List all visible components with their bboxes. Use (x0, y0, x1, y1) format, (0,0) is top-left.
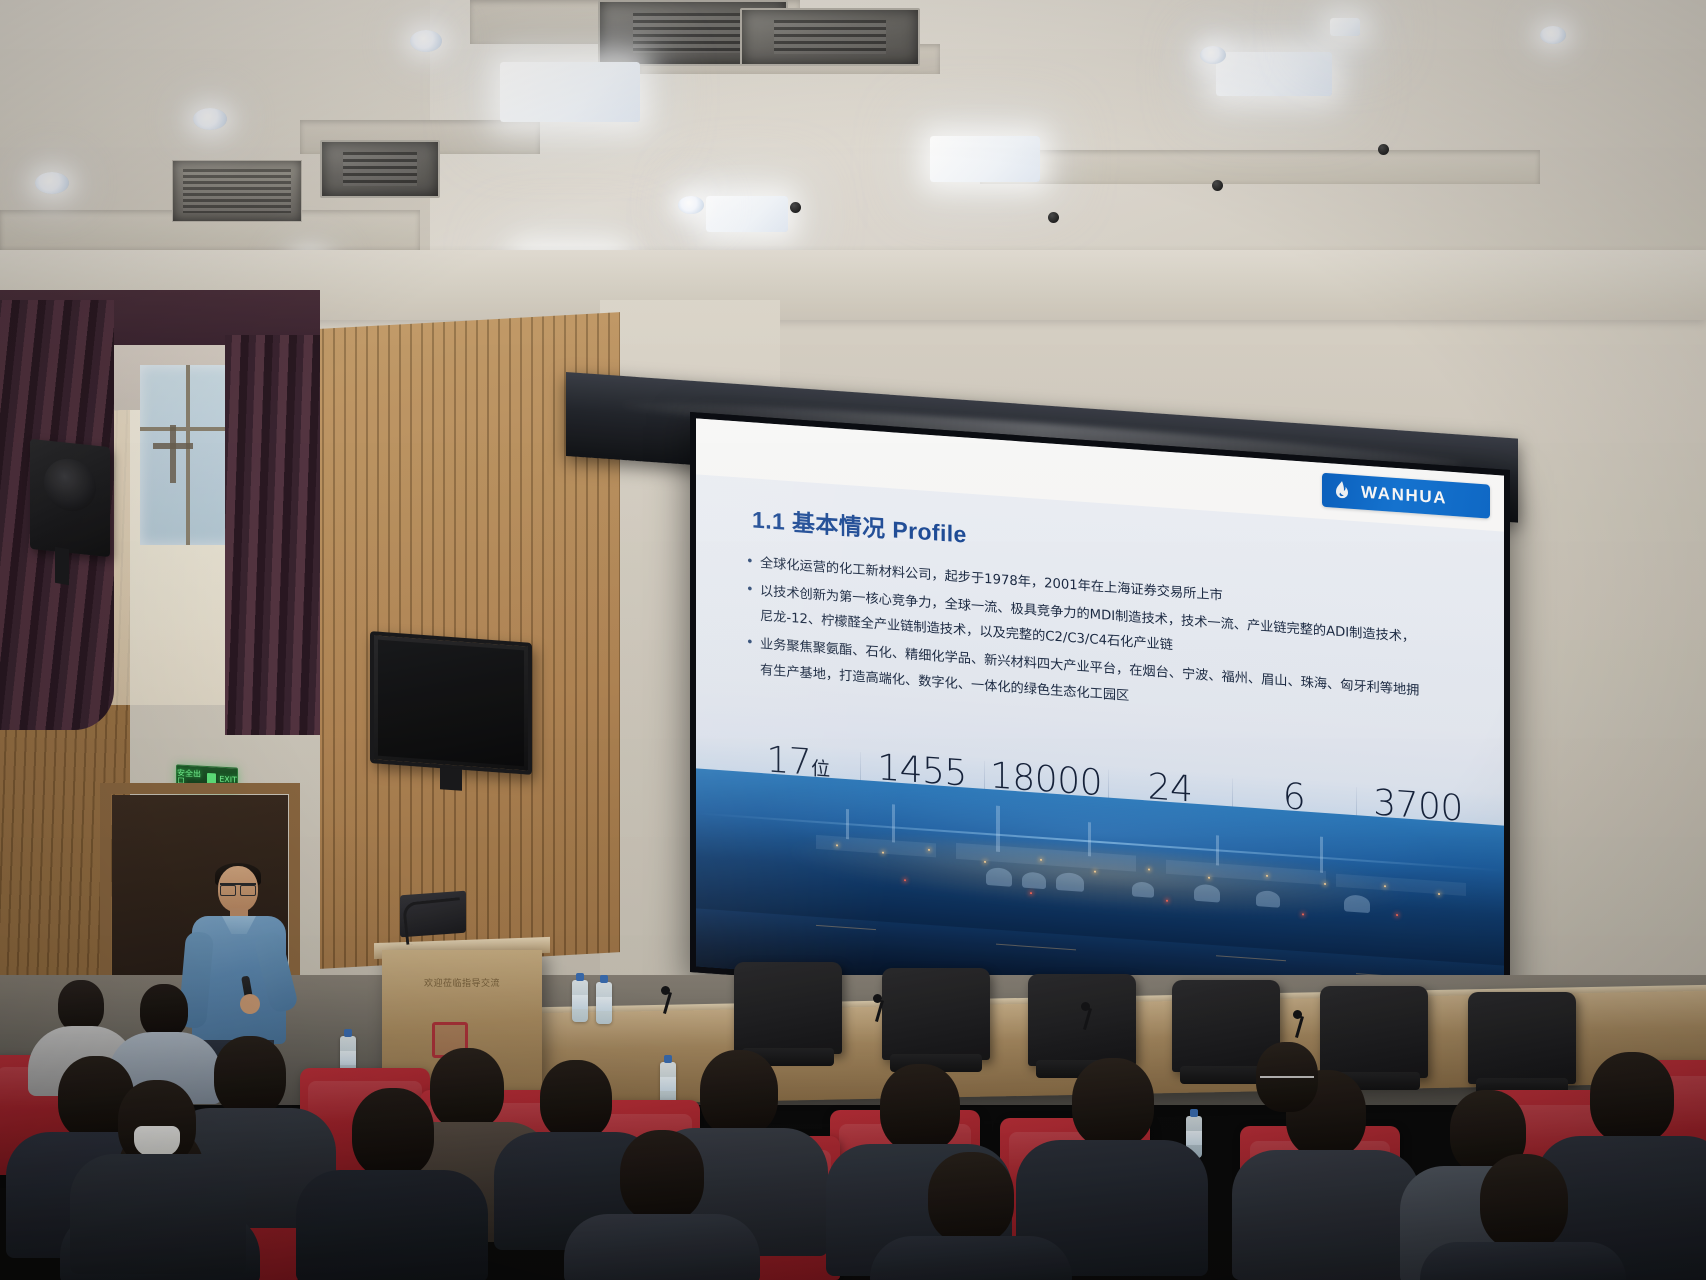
wall-speaker-bracket (55, 547, 69, 585)
ceiling-panel-light (500, 62, 640, 122)
ceiling-panel-light (1330, 18, 1360, 36)
wall-cross-ornament (153, 443, 193, 449)
ceiling-soffit (980, 150, 1540, 184)
ac-vent (172, 160, 302, 222)
slide-title: 1.1 基本情况 Profile (752, 500, 967, 549)
ceiling-panel-light (1216, 52, 1332, 96)
led-display-screen[interactable]: WANHUA 1.1 基本情况 Profile 全球化运营的化工新材料公司，起步… (690, 412, 1510, 1030)
glasses-icon (220, 883, 256, 892)
monitor-screen (378, 640, 524, 767)
window (140, 365, 235, 545)
slide-bullet-list: 全球化运营的化工新材料公司，起步于1978年，2001年在上海证券交易所上市 以… (742, 550, 1482, 737)
downlight (410, 30, 442, 52)
downlight (1200, 46, 1226, 64)
ceiling-speaker (790, 202, 801, 213)
downlight (1540, 26, 1566, 44)
podium-microphone (402, 897, 464, 945)
wall-monitor[interactable] (370, 631, 532, 775)
ac-vent (740, 8, 920, 66)
wall-cross-ornament (170, 425, 176, 483)
lecture-hall-photo: 安全出口 EXIT WANHUA 1.1 基本情况 Profile (0, 0, 1706, 1280)
ceiling-speaker (1212, 180, 1223, 191)
curtain-right (225, 335, 320, 735)
ac-vent (320, 140, 440, 198)
downlight (678, 196, 704, 214)
ceiling-speaker (1048, 212, 1059, 223)
face-mask-icon (134, 1126, 180, 1156)
ceiling-panel-light (706, 196, 788, 232)
glasses-icon (1260, 1076, 1314, 1088)
wanhua-brand-text: WANHUA (1361, 483, 1447, 509)
monitor-bracket (440, 767, 462, 791)
presentation-slide: WANHUA 1.1 基本情况 Profile 全球化运营的化工新材料公司，起步… (696, 418, 1504, 1023)
downlight (35, 172, 69, 194)
ceiling-speaker (1378, 144, 1389, 155)
downlight (193, 108, 227, 130)
ceiling-panel-light (930, 136, 1040, 182)
audience-area (0, 940, 1706, 1280)
wanhua-flame-icon (1330, 478, 1354, 504)
wall-speaker (30, 439, 110, 557)
